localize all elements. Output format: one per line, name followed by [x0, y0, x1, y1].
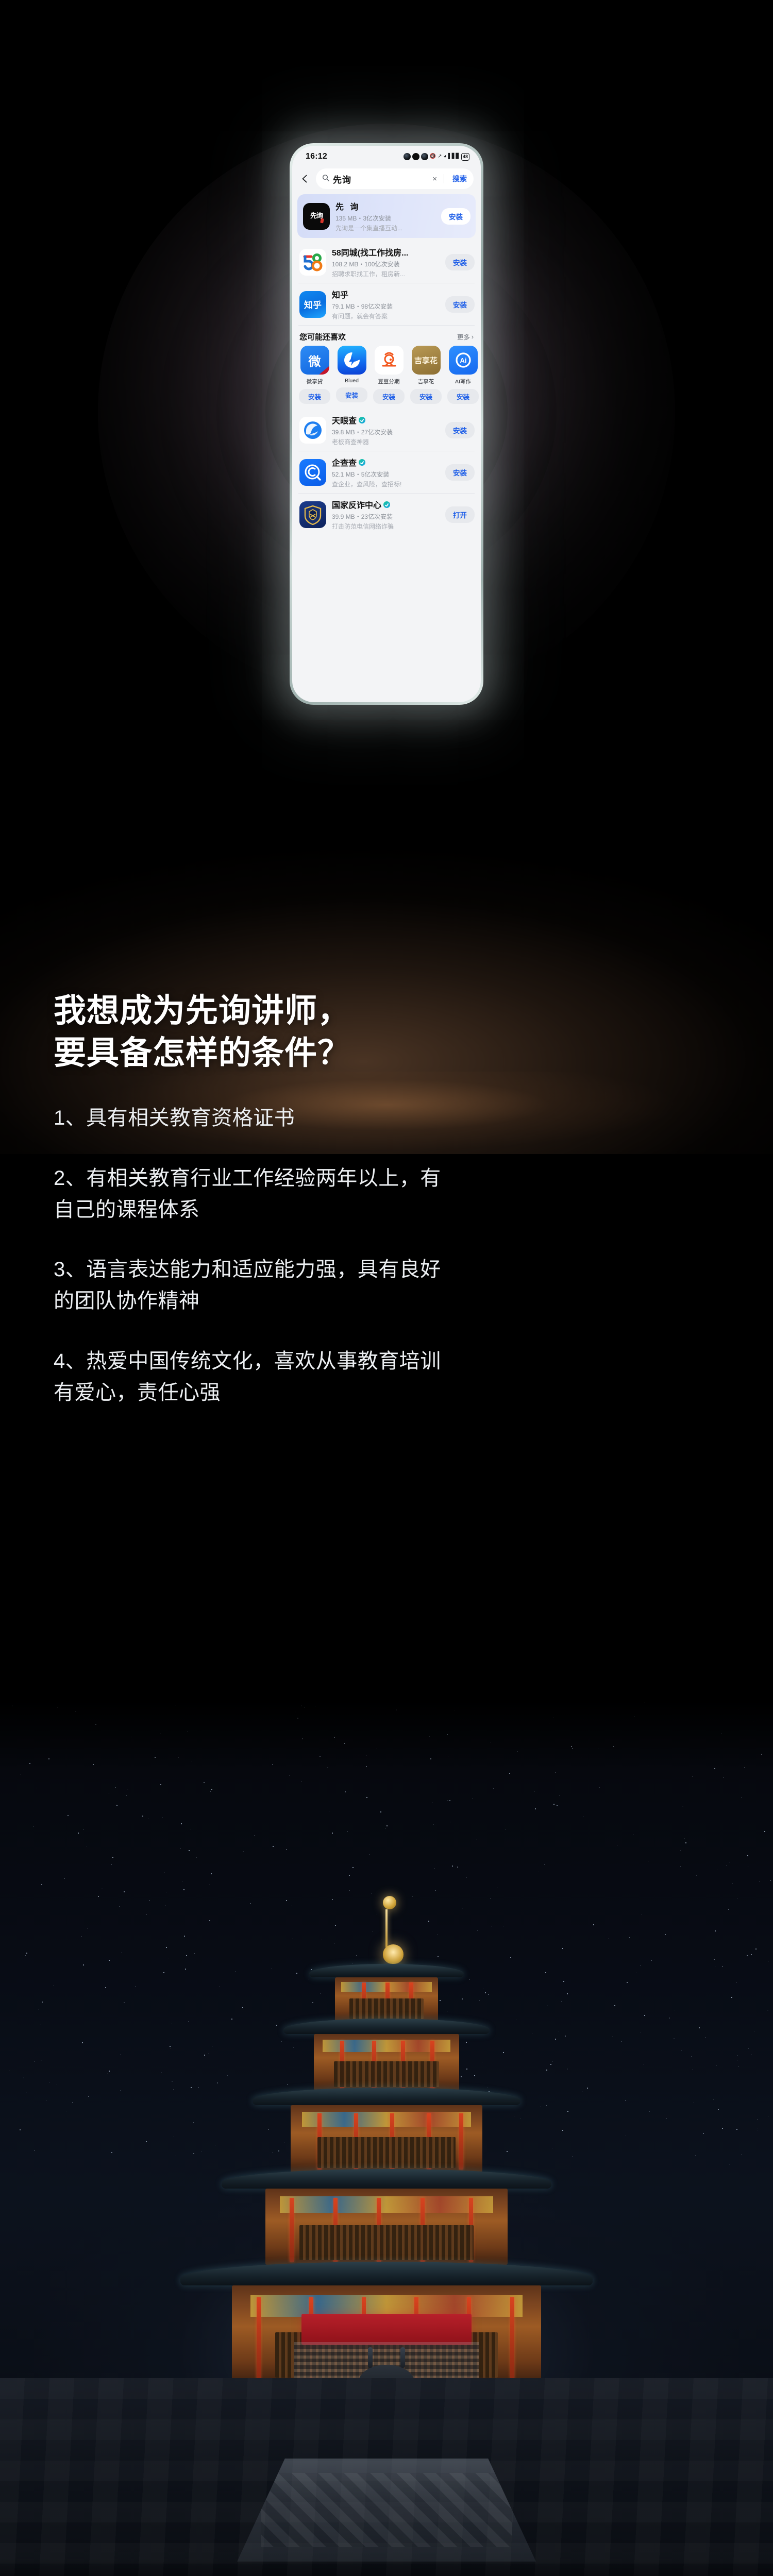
recommend-item[interactable]: Ai AI写作 安装 — [447, 346, 479, 404]
app-row[interactable]: 知乎 知乎 79.1 MB・98亿次安装 有问题，就会有答案 安装 — [298, 283, 475, 326]
app-name: 58同城(找工作找房... — [332, 246, 440, 258]
pagoda-pillars — [335, 1977, 438, 2022]
search-query-text: 先询 — [333, 173, 426, 185]
app-name: 微享贷 — [299, 378, 330, 385]
photo-top-fade — [0, 1700, 773, 1772]
app-icon-58tongcheng — [299, 249, 326, 276]
pagoda-tier-body — [265, 2189, 508, 2265]
app-size-installs: 135 MB・3亿次安装 — [335, 214, 435, 223]
camera-lens-icon — [412, 153, 419, 160]
photo-bottom-fade — [0, 2558, 773, 2576]
pagoda-tier — [283, 2019, 490, 2091]
app-icon-guojiafanzha — [299, 501, 326, 528]
svg-text:Ai: Ai — [460, 357, 466, 364]
app-name: AI写作 — [447, 378, 479, 385]
recommend-title: 您可能还喜欢 — [299, 331, 346, 342]
recommend-more-link[interactable]: 更多 › — [457, 332, 474, 342]
app-icon-aixiezuo: Ai — [449, 346, 478, 375]
app-description: 招聘求职找工作，租房新... — [332, 269, 440, 278]
app-meta: 企查查 52.1 MB・5亿次安装 查企业，查风险，查招标! — [332, 456, 440, 488]
install-button[interactable]: 安装 — [445, 464, 475, 481]
app-icon-accent — [320, 218, 324, 223]
app-meta: 天眼查 39.8 MB・27亿次安装 老板商查神器 — [332, 414, 440, 446]
recommend-grid: 微 微享贷 安装 Blued 安装 — [292, 346, 481, 404]
requirement-item: 2、有相关教育行业工作经验两年以上，有 自己的课程体系 — [54, 1163, 724, 1226]
phone-device: 16:12 🔇 ↗ ◕ ▌▋▊ 48 — [290, 143, 483, 705]
app-icon-text: 知乎 — [304, 298, 322, 311]
app-size-installs: 39.8 MB・27亿次安装 — [332, 428, 440, 436]
pagoda-tier-body — [314, 2034, 459, 2091]
app-name: 天眼查 — [332, 414, 440, 426]
app-name: 吉享花 — [410, 378, 442, 385]
app-icon-tianyancha — [299, 417, 326, 444]
camera-lens-icon — [421, 153, 428, 160]
app-icon-weixiangdai: 微 — [300, 346, 329, 375]
install-button[interactable]: 安装 — [445, 296, 475, 313]
recommend-item[interactable]: Blued 安装 — [336, 346, 367, 404]
censer-horn — [400, 2347, 405, 2368]
recommend-more-label: 更多 — [457, 332, 470, 342]
app-name: 知乎 — [332, 288, 440, 300]
app-name-text: 国家反诈中心 — [332, 498, 381, 511]
app-icon-text: 微 — [309, 351, 321, 369]
app-description: 打击防范电信网络诈骗 — [332, 522, 440, 531]
pagoda-tier-body — [291, 2105, 482, 2172]
install-button[interactable]: 安装 — [299, 389, 330, 404]
battery-icon: 48 — [461, 153, 469, 161]
featured-app-meta: 先 询 135 MB・3亿次安装 先询是一个集直播互动... — [335, 200, 435, 232]
install-button[interactable]: 安装 — [373, 389, 405, 404]
install-button[interactable]: 安装 — [336, 387, 367, 402]
red-banner — [301, 2314, 472, 2345]
app-icon-doudoufenqi — [375, 346, 404, 375]
status-bar: 16:12 🔇 ↗ ◕ ▌▋▊ 48 — [292, 146, 481, 166]
pagoda-tier — [222, 2169, 551, 2265]
app-meta: 知乎 79.1 MB・98亿次安装 有问题，就会有答案 — [332, 288, 440, 320]
recommend-item[interactable]: 吉享花 吉享花 安装 — [410, 346, 442, 404]
app-icon-text-top: 先 — [310, 213, 316, 220]
requirements-section: 我想成为先询讲师， 要具备怎样的条件？ 1、具有相关教育资格证书 2、有相关教育… — [0, 824, 773, 1700]
search-submit-button[interactable]: 搜索 — [448, 174, 468, 184]
verified-badge-icon — [359, 459, 365, 466]
requirement-item: 1、具有相关教育资格证书 — [54, 1103, 724, 1134]
status-time: 16:12 — [306, 152, 327, 161]
wifi-icon: ◕ — [443, 154, 446, 159]
app-description: 有问题，就会有答案 — [332, 312, 440, 320]
search-input[interactable]: 先询 × 搜索 — [316, 168, 474, 189]
pagoda-tier — [309, 1964, 464, 2022]
app-row[interactable]: 天眼查 39.8 MB・27亿次安装 老板商查神器 安装 — [298, 409, 475, 451]
app-name: 国家反诈中心 — [332, 498, 440, 511]
app-size-installs: 79.1 MB・98亿次安装 — [332, 302, 440, 311]
divider — [444, 174, 444, 183]
pagoda-eave — [180, 2262, 593, 2285]
app-icon-zhihu: 知乎 — [299, 291, 326, 318]
requirement-item: 3、语言表达能力和适应能力强，具有良好 的团队协作精神 — [54, 1254, 724, 1317]
app-size-installs: 39.9 MB・23亿次安装 — [332, 512, 440, 521]
app-row[interactable]: 58同城(找工作找房... 108.2 MB・100亿次安装 招聘求职找工作，租… — [298, 241, 475, 283]
censer-horn — [368, 2347, 373, 2368]
requirements-list: 1、具有相关教育资格证书 2、有相关教育行业工作经验两年以上，有 自己的课程体系… — [54, 1103, 724, 1437]
pagoda-eave — [222, 2169, 551, 2189]
recommend-item[interactable]: 微 微享贷 安装 — [299, 346, 330, 404]
app-size-installs: 52.1 MB・5亿次安装 — [332, 470, 440, 479]
app-icon-blued — [338, 346, 366, 375]
promo-page: 16:12 🔇 ↗ ◕ ▌▋▊ 48 — [0, 0, 773, 2576]
phone-screen: 16:12 🔇 ↗ ◕ ▌▋▊ 48 — [292, 146, 481, 702]
app-name: 企查查 — [332, 456, 440, 468]
requirement-item: 4、热爱中国传统文化，喜欢从事教育培训 有爱心，责任心强 — [54, 1346, 724, 1409]
phone-hero-section: 16:12 🔇 ↗ ◕ ▌▋▊ 48 — [0, 0, 773, 824]
spire-finial — [383, 1944, 404, 1964]
pagoda-pillars — [291, 2105, 482, 2172]
pagoda-pillars — [265, 2189, 508, 2265]
app-row[interactable]: 企查查 52.1 MB・5亿次安装 查企业，查风险，查招标! 安装 — [298, 451, 475, 494]
app-name: 豆豆分期 — [373, 378, 405, 385]
verified-badge-icon — [383, 501, 390, 508]
chevron-right-icon: › — [472, 333, 474, 341]
install-button[interactable]: 安装 — [447, 389, 479, 404]
pagoda-eave — [309, 1964, 464, 1977]
featured-app-row[interactable]: 先 询 先 询 135 MB・3亿次安装 先询是一个集直播互动... 安装 — [297, 194, 476, 238]
camera-lens-icon — [404, 153, 411, 160]
close-icon[interactable]: × — [429, 175, 440, 183]
pagoda-tier — [253, 2088, 520, 2172]
app-icon-qichacha — [299, 459, 326, 486]
pagoda-eave — [253, 2088, 520, 2105]
spire-orb — [383, 1896, 396, 1909]
install-button[interactable]: 安装 — [445, 422, 475, 438]
app-description: 老板商查神器 — [332, 437, 440, 446]
back-arrow-icon[interactable] — [297, 171, 313, 187]
section-heading: 我想成为先询讲师， 要具备怎样的条件？ — [54, 990, 350, 1075]
app-name: 先 询 — [335, 200, 435, 212]
spire-rod — [385, 1909, 388, 1947]
app-name-text: 天眼查 — [332, 414, 357, 426]
app-description: 查企业，查风险，查招标! — [332, 480, 440, 488]
pagoda-tier-body — [335, 1977, 438, 2022]
app-meta: 58同城(找工作找房... 108.2 MB・100亿次安装 招聘求职找工作，租… — [332, 246, 440, 278]
app-meta: 国家反诈中心 39.9 MB・23亿次安装 打击防范电信网络诈骗 — [332, 498, 440, 531]
install-button[interactable]: 安装 — [445, 254, 475, 270]
status-icons: 🔇 ↗ ◕ ▌▋▊ 48 — [404, 153, 469, 161]
install-button[interactable]: 安装 — [441, 208, 470, 225]
app-icon-xianxun: 先 询 — [303, 203, 330, 230]
recommend-header: 您可能还喜欢 更多 › — [292, 326, 481, 346]
app-icon-text: 吉享花 — [414, 355, 438, 366]
app-name: Blued — [336, 378, 367, 384]
search-results-list: 先 询 先 询 135 MB・3亿次安装 先询是一个集直播互动... 安装 — [292, 194, 481, 535]
app-row[interactable]: 国家反诈中心 39.9 MB・23亿次安装 打击防范电信网络诈骗 打开 — [298, 494, 475, 535]
app-size-installs: 108.2 MB・100亿次安装 — [332, 260, 440, 268]
pagoda-spire — [383, 1896, 390, 1964]
pagoda-eave — [283, 2019, 490, 2034]
plaza-marble-inlay — [237, 2459, 536, 2562]
search-icon — [322, 174, 329, 184]
app-name-text: 企查查 — [332, 456, 357, 468]
verified-badge-icon — [359, 417, 365, 423]
signal-4g-icon: ▌▋▊ — [448, 154, 460, 159]
network-speed-icon: ↗ — [438, 154, 442, 159]
mute-icon: 🔇 — [430, 154, 436, 159]
recommend-item[interactable]: 豆豆分期 安装 — [373, 346, 405, 404]
app-description: 先询是一个集直播互动... — [335, 224, 435, 232]
install-button[interactable]: 安装 — [410, 389, 442, 404]
open-button[interactable]: 打开 — [445, 506, 475, 523]
app-icon-jixianghua: 吉享花 — [412, 346, 441, 375]
pagoda-photo-section — [0, 1700, 773, 2576]
pagoda-pillars — [314, 2034, 459, 2091]
search-header: 先询 × 搜索 — [292, 166, 481, 193]
